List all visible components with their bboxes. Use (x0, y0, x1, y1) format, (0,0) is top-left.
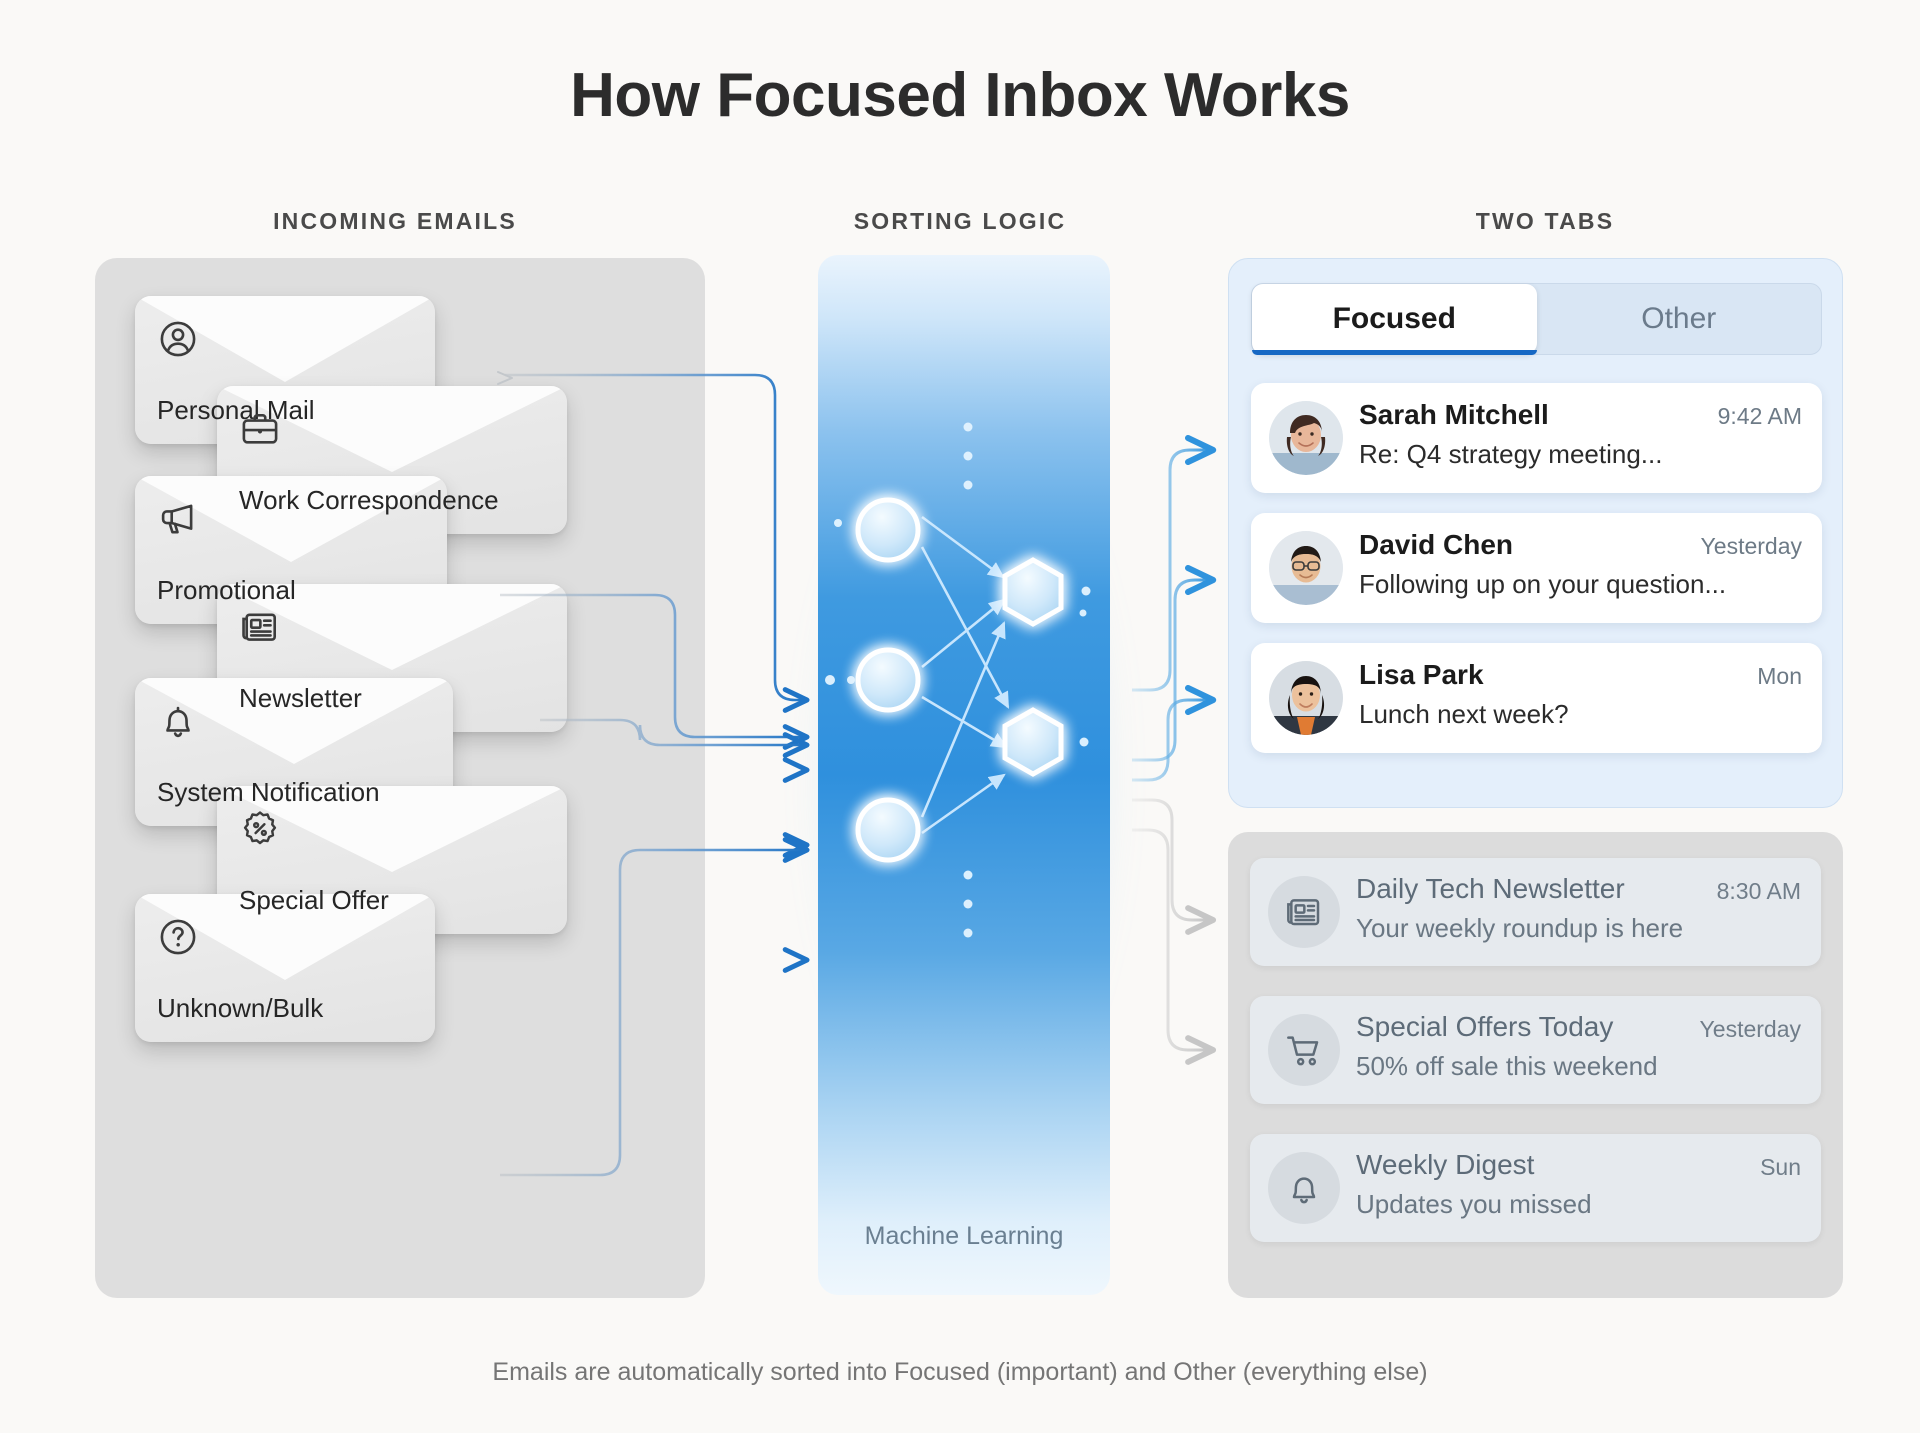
user-circle-icon (157, 318, 199, 360)
timestamp: Sun (1760, 1154, 1801, 1181)
timestamp: 9:42 AM (1718, 403, 1802, 430)
sender-name: Lisa Park (1359, 659, 1484, 691)
focused-message-row[interactable]: David Chen Yesterday Following up on you… (1251, 513, 1822, 623)
avatar (1269, 661, 1343, 735)
email-card-unknown-bulk[interactable]: Unknown/Bulk (135, 894, 435, 1042)
sender-name: David Chen (1359, 529, 1513, 561)
timestamp: Yesterday (1701, 533, 1802, 560)
email-card-work-correspondence[interactable]: Work Correspondence (217, 386, 567, 534)
subject-line: Following up on your question... (1359, 569, 1726, 600)
timestamp: 8:30 AM (1717, 878, 1801, 905)
sender-name: Special Offers Today (1356, 1011, 1613, 1043)
newspaper-icon (1268, 876, 1340, 948)
other-tab-panel: Daily Tech Newsletter 8:30 AM Your weekl… (1228, 832, 1843, 1298)
tab-focused[interactable]: Focused (1252, 284, 1537, 354)
other-message-row[interactable]: Special Offers Today Yesterday 50% off s… (1250, 996, 1821, 1104)
incoming-emails-panel: Personal Mail Work Correspondence (95, 258, 705, 1298)
timestamp: Yesterday (1700, 1016, 1801, 1043)
sorting-logic-panel (818, 255, 1110, 1295)
column-header-incoming: INCOMING EMAILS (95, 208, 695, 235)
focused-message-row[interactable]: Sarah Mitchell 9:42 AM Re: Q4 strategy m… (1251, 383, 1822, 493)
shopping-cart-icon (1268, 1014, 1340, 1086)
newspaper-icon (239, 606, 281, 648)
focused-tab-panel: Focused Other (1228, 258, 1843, 808)
subject-line: Updates you missed (1356, 1189, 1592, 1220)
avatar (1269, 401, 1343, 475)
focused-message-row[interactable]: Lisa Park Mon Lunch next week? (1251, 643, 1822, 753)
subject-line: Re: Q4 strategy meeting... (1359, 439, 1662, 470)
subject-line: 50% off sale this weekend (1356, 1051, 1658, 1082)
avatar (1269, 531, 1343, 605)
timestamp: Mon (1757, 663, 1802, 690)
email-card-label: Promotional (157, 575, 296, 606)
inbox-tab-bar: Focused Other (1251, 283, 1822, 355)
subject-line: Your weekly roundup is here (1356, 913, 1683, 944)
discount-badge-icon (239, 808, 281, 850)
bell-icon (1268, 1152, 1340, 1224)
other-message-row[interactable]: Daily Tech Newsletter 8:30 AM Your weekl… (1250, 858, 1821, 966)
email-card-label: Work Correspondence (239, 485, 499, 516)
email-card-label: Newsletter (239, 683, 362, 714)
email-card-label: System Notification (157, 777, 380, 808)
subject-line: Lunch next week? (1359, 699, 1569, 730)
email-card-label: Unknown/Bulk (157, 993, 323, 1024)
sender-name: Weekly Digest (1356, 1149, 1534, 1181)
infographic-root: How Focused Inbox Works INCOMING EMAILS … (0, 0, 1920, 1433)
neural-network-graphic (818, 255, 1110, 1295)
sender-name: Sarah Mitchell (1359, 399, 1549, 431)
column-header-two-tabs: TWO TABS (1245, 208, 1845, 235)
briefcase-icon (239, 408, 281, 450)
footer-caption: Emails are automatically sorted into Foc… (0, 1358, 1920, 1387)
tab-other[interactable]: Other (1537, 284, 1822, 354)
page-title: How Focused Inbox Works (0, 60, 1920, 131)
sender-name: Daily Tech Newsletter (1356, 873, 1625, 905)
email-card-label: Personal Mail (157, 395, 315, 426)
column-header-sorting: SORTING LOGIC (660, 208, 1260, 235)
bell-icon (157, 700, 199, 742)
ml-caption: Machine Learning (818, 1222, 1110, 1251)
megaphone-icon (157, 498, 199, 540)
question-circle-icon (157, 916, 199, 958)
other-message-row[interactable]: Weekly Digest Sun Updates you missed (1250, 1134, 1821, 1242)
email-card-label: Special Offer (239, 885, 389, 916)
